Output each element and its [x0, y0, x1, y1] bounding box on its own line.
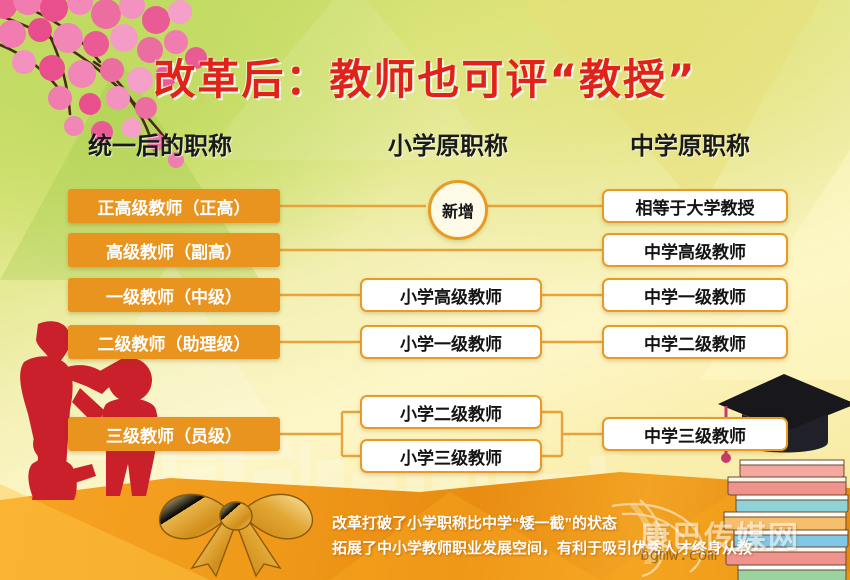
column-header-primary: 小学原职称: [388, 126, 508, 161]
primary-rank-box-5a[interactable]: 小学二级教师: [360, 395, 542, 429]
primary-rank-box-4[interactable]: 小学一级教师: [360, 325, 542, 359]
unified-rank-box-2[interactable]: 高级教师（副高）: [68, 233, 280, 267]
watermark-url: bgmw.com: [640, 545, 717, 564]
secondary-rank-box-5[interactable]: 中学三级教师: [602, 417, 788, 451]
secondary-rank-box-4[interactable]: 中学二级教师: [602, 325, 788, 359]
primary-rank-box-5b[interactable]: 小学三级教师: [360, 439, 542, 473]
primary-rank-box-3[interactable]: 小学高级教师: [360, 278, 542, 312]
secondary-rank-box-1[interactable]: 相等于大学教授: [602, 189, 788, 223]
unified-rank-box-4[interactable]: 二级教师（助理级）: [68, 325, 280, 359]
caption-line-1: 改革打破了小学职称比中学“矮一截”的状态: [332, 512, 617, 533]
poster-canvas: 改革后：教师也可评“教授” 统一后的职称 小学原职称 中学原职称: [0, 0, 850, 580]
new-badge[interactable]: 新增: [428, 180, 488, 240]
column-header-secondary: 中学原职称: [630, 126, 750, 161]
unified-rank-box-5[interactable]: 三级教师（员级）: [68, 417, 280, 451]
unified-rank-box-3[interactable]: 一级教师（中级）: [68, 278, 280, 312]
secondary-rank-box-2[interactable]: 中学高级教师: [602, 233, 788, 267]
secondary-rank-box-3[interactable]: 中学一级教师: [602, 278, 788, 312]
unified-rank-box-1[interactable]: 正高级教师（正高）: [68, 189, 280, 223]
page-title: 改革后：教师也可评“教授”: [0, 46, 850, 107]
column-header-unified: 统一后的职称: [88, 126, 232, 161]
